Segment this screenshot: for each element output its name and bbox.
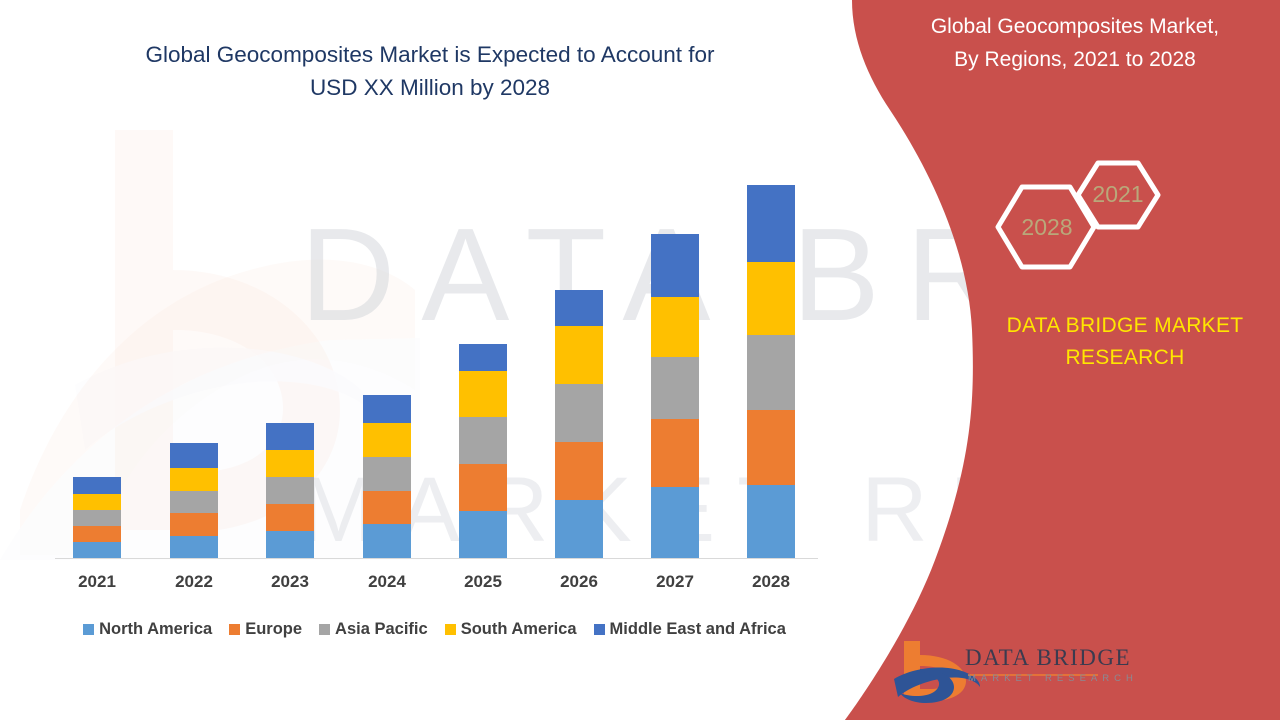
brand-name: DATA BRIDGE MARKET RESEARCH <box>960 310 1280 374</box>
logo-text-secondary: MARKET RESEARCH <box>968 673 1138 684</box>
slide-canvas: DATA BRIDGE MARKET RESEARCH Global Geoco… <box>0 0 1280 720</box>
hexagon-group: 2028 2021 <box>980 155 1200 295</box>
hexagon-shapes <box>980 155 1200 295</box>
side-panel-title-line-1: Global Geocomposites Market, <box>900 10 1250 43</box>
brand-name-line-2: RESEARCH <box>960 342 1280 374</box>
side-panel-title: Global Geocomposites Market, By Regions,… <box>900 10 1250 76</box>
logo-text-primary: DATA BRIDGE <box>965 645 1131 671</box>
hexagon-2028-label: 2028 <box>1020 214 1074 241</box>
hexagon-2021-label: 2021 <box>1091 181 1145 208</box>
brand-name-line-1: DATA BRIDGE MARKET <box>960 310 1280 342</box>
side-panel-title-line-2: By Regions, 2021 to 2028 <box>900 43 1250 76</box>
